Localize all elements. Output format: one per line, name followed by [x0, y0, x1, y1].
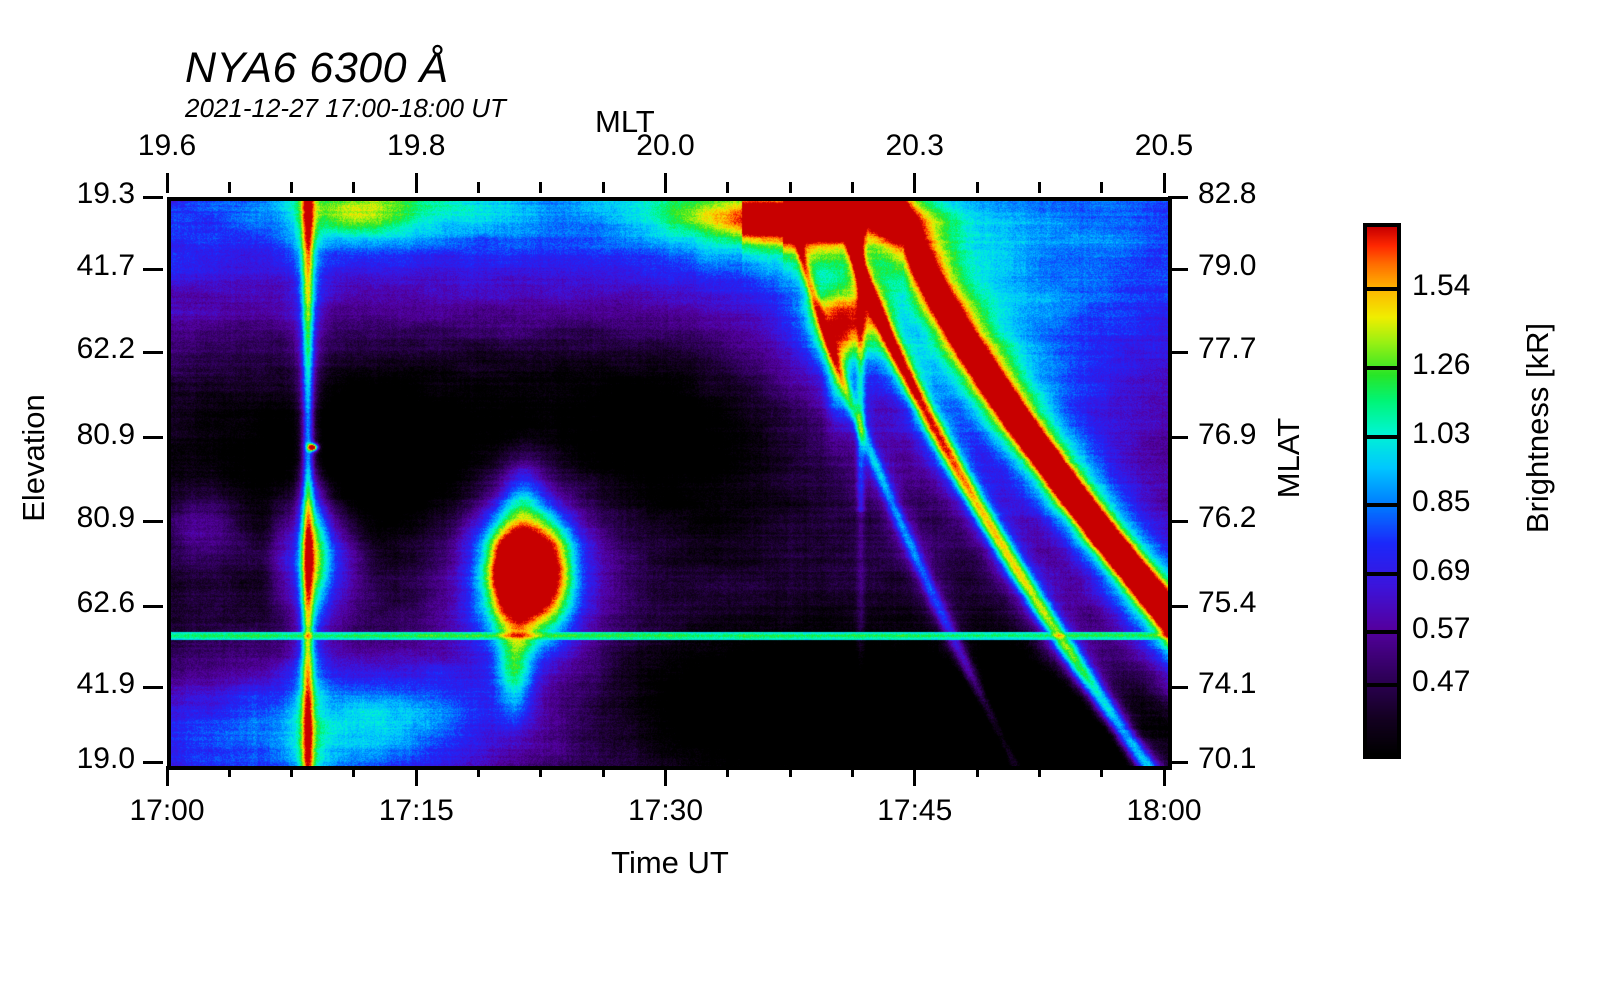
colorbar-tick-label: 0.69 — [1412, 554, 1470, 588]
major-tick — [664, 173, 667, 193]
minor-tick — [1100, 182, 1103, 193]
major-tick — [143, 436, 163, 439]
major-tick — [143, 686, 163, 689]
minor-tick — [602, 182, 605, 193]
page-title: NYA6 6300 Å — [185, 44, 449, 93]
minor-tick — [976, 766, 979, 777]
major-tick — [143, 196, 163, 199]
colorbar-tick-label: 0.85 — [1412, 485, 1470, 519]
major-tick — [143, 761, 163, 764]
minor-tick — [539, 766, 542, 777]
colorbar-separator — [1363, 435, 1401, 439]
major-tick — [166, 766, 169, 786]
colorbar-title-brightness: Brightness [kR] — [1520, 268, 1556, 588]
major-tick — [1163, 766, 1166, 786]
colorbar-tick-label: 1.03 — [1412, 417, 1470, 451]
minor-tick — [352, 766, 355, 777]
major-tick — [1168, 436, 1188, 439]
elevation-tick-label: 19.0 — [0, 742, 135, 776]
minor-tick — [228, 182, 231, 193]
colorbar-separator — [1363, 683, 1401, 687]
minor-tick — [851, 182, 854, 193]
minor-tick — [726, 182, 729, 193]
minor-tick — [976, 182, 979, 193]
colorbar-tick-label: 1.26 — [1412, 348, 1470, 382]
time-tick-label: 17:45 — [835, 794, 995, 828]
mlt-tick-label: 19.8 — [336, 129, 496, 163]
minor-tick — [290, 766, 293, 777]
major-tick — [143, 351, 163, 354]
colorbar-separator — [1363, 630, 1401, 634]
major-tick — [143, 605, 163, 608]
elevation-tick-label: 41.9 — [0, 667, 135, 701]
left-axis-title-elevation: Elevation — [16, 368, 52, 548]
keogram-image — [171, 201, 1168, 766]
keogram-plot-area — [167, 197, 1172, 770]
major-tick — [664, 766, 667, 786]
colorbar-separator — [1363, 287, 1401, 291]
major-tick — [1168, 605, 1188, 608]
time-tick-label: 17:00 — [87, 794, 247, 828]
elevation-tick-label: 62.6 — [0, 586, 135, 620]
minor-tick — [1100, 766, 1103, 777]
major-tick — [1168, 520, 1188, 523]
minor-tick — [290, 182, 293, 193]
major-tick — [1168, 268, 1188, 271]
minor-tick — [789, 182, 792, 193]
colorbar — [1363, 223, 1401, 759]
time-tick-label: 18:00 — [1084, 794, 1244, 828]
major-tick — [415, 766, 418, 786]
major-tick — [143, 520, 163, 523]
major-tick — [913, 766, 916, 786]
major-tick — [1168, 686, 1188, 689]
minor-tick — [789, 766, 792, 777]
major-tick — [143, 268, 163, 271]
minor-tick — [726, 766, 729, 777]
colorbar-separator — [1363, 503, 1401, 507]
colorbar-separator — [1363, 572, 1401, 576]
time-tick-label: 17:30 — [586, 794, 746, 828]
minor-tick — [352, 182, 355, 193]
elevation-tick-label: 62.2 — [0, 332, 135, 366]
colorbar-tick-label: 1.54 — [1412, 269, 1470, 303]
minor-tick — [477, 182, 480, 193]
minor-tick — [228, 766, 231, 777]
colorbar-separator — [1363, 366, 1401, 370]
mlt-tick-label: 20.5 — [1084, 129, 1244, 163]
mlat-tick-label: 82.8 — [1198, 177, 1398, 211]
page-subtitle: 2021-12-27 17:00-18:00 UT — [185, 93, 506, 124]
minor-tick — [539, 182, 542, 193]
major-tick — [166, 173, 169, 193]
elevation-tick-label: 41.7 — [0, 249, 135, 283]
colorbar-tick-label: 0.57 — [1412, 612, 1470, 646]
mlt-tick-label: 20.0 — [586, 129, 746, 163]
minor-tick — [851, 766, 854, 777]
colorbar-gradient — [1367, 227, 1397, 755]
major-tick — [913, 173, 916, 193]
right-axis-title-mlat: MLAT — [1271, 368, 1307, 548]
colorbar-tick-label: 0.47 — [1412, 665, 1470, 699]
mlt-tick-label: 19.6 — [87, 129, 247, 163]
minor-tick — [1038, 182, 1041, 193]
major-tick — [1168, 196, 1188, 199]
major-tick — [1168, 761, 1188, 764]
minor-tick — [1038, 766, 1041, 777]
minor-tick — [477, 766, 480, 777]
minor-tick — [602, 766, 605, 777]
major-tick — [1163, 173, 1166, 193]
time-tick-label: 17:15 — [336, 794, 496, 828]
major-tick — [415, 173, 418, 193]
major-tick — [1168, 351, 1188, 354]
elevation-tick-label: 19.3 — [0, 177, 135, 211]
bottom-axis-title-time: Time UT — [540, 845, 800, 881]
mlt-tick-label: 20.3 — [835, 129, 995, 163]
